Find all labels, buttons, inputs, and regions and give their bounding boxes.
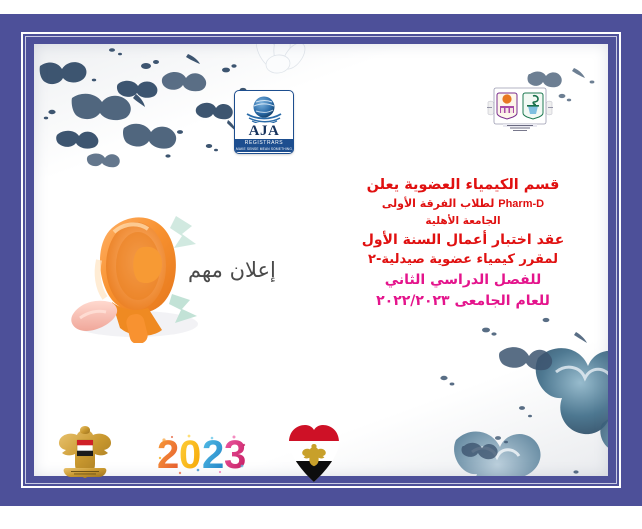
headline-line-1: قسم الكيمياء العضوية يعلن <box>318 176 608 195</box>
headline-line-6: للفصل الدراسي الثاني <box>318 270 608 291</box>
headline-line-2-english: Pharm-D <box>498 198 544 210</box>
floral-decoration-bottom-right <box>426 312 608 476</box>
globe-icon <box>244 95 284 123</box>
svg-text:3: 3 <box>224 433 245 476</box>
headline-line-2-arabic: لطلاب الفرقة الأولى <box>382 197 495 210</box>
aja-logo-name: AJA <box>235 124 293 139</box>
svg-text:2: 2 <box>157 433 178 476</box>
announcement-poster: AJA REGISTRARS MAKE SENSE MEAN SOMETHING <box>0 0 642 529</box>
svg-text:2: 2 <box>202 433 223 476</box>
announcement-label: إعلان مهم <box>188 253 300 287</box>
headline-line-4: عقد اختبار أعمال السنة الأول <box>318 230 608 250</box>
magnolia-flower-decoration <box>244 44 314 82</box>
aja-logo-subtitle-2: MAKE SENSE MEAN SOMETHING <box>235 146 293 152</box>
headline-block: قسم الكيمياء العضوية يعلن Pharm-D لطلاب … <box>318 176 608 312</box>
headline-line-7: للعام الجامعى ٢٠٢٢/٢٠٢٣ <box>318 291 608 312</box>
year-2023-graphic: 2 0 2 3 <box>156 432 248 476</box>
faculty-of-pharmacy-emblem <box>487 84 553 134</box>
headline-line-5: لمقرر كيمياء عضوية صيدلية-٢ <box>318 250 608 270</box>
floral-decoration-bottom-center <box>454 428 524 468</box>
aja-registrars-logo: AJA REGISTRARS MAKE SENSE MEAN SOMETHING <box>234 90 294 154</box>
aja-logo-subtitle: REGISTRARS MAKE SENSE MEAN SOMETHING <box>235 139 293 152</box>
egypt-heart-flag-icon <box>286 420 342 484</box>
headline-line-2: Pharm-D لطلاب الفرقة الأولى <box>318 195 608 213</box>
egypt-coat-of-arms-icon <box>52 424 118 482</box>
headline-line-3: الجامعة الأهلية <box>318 213 608 230</box>
